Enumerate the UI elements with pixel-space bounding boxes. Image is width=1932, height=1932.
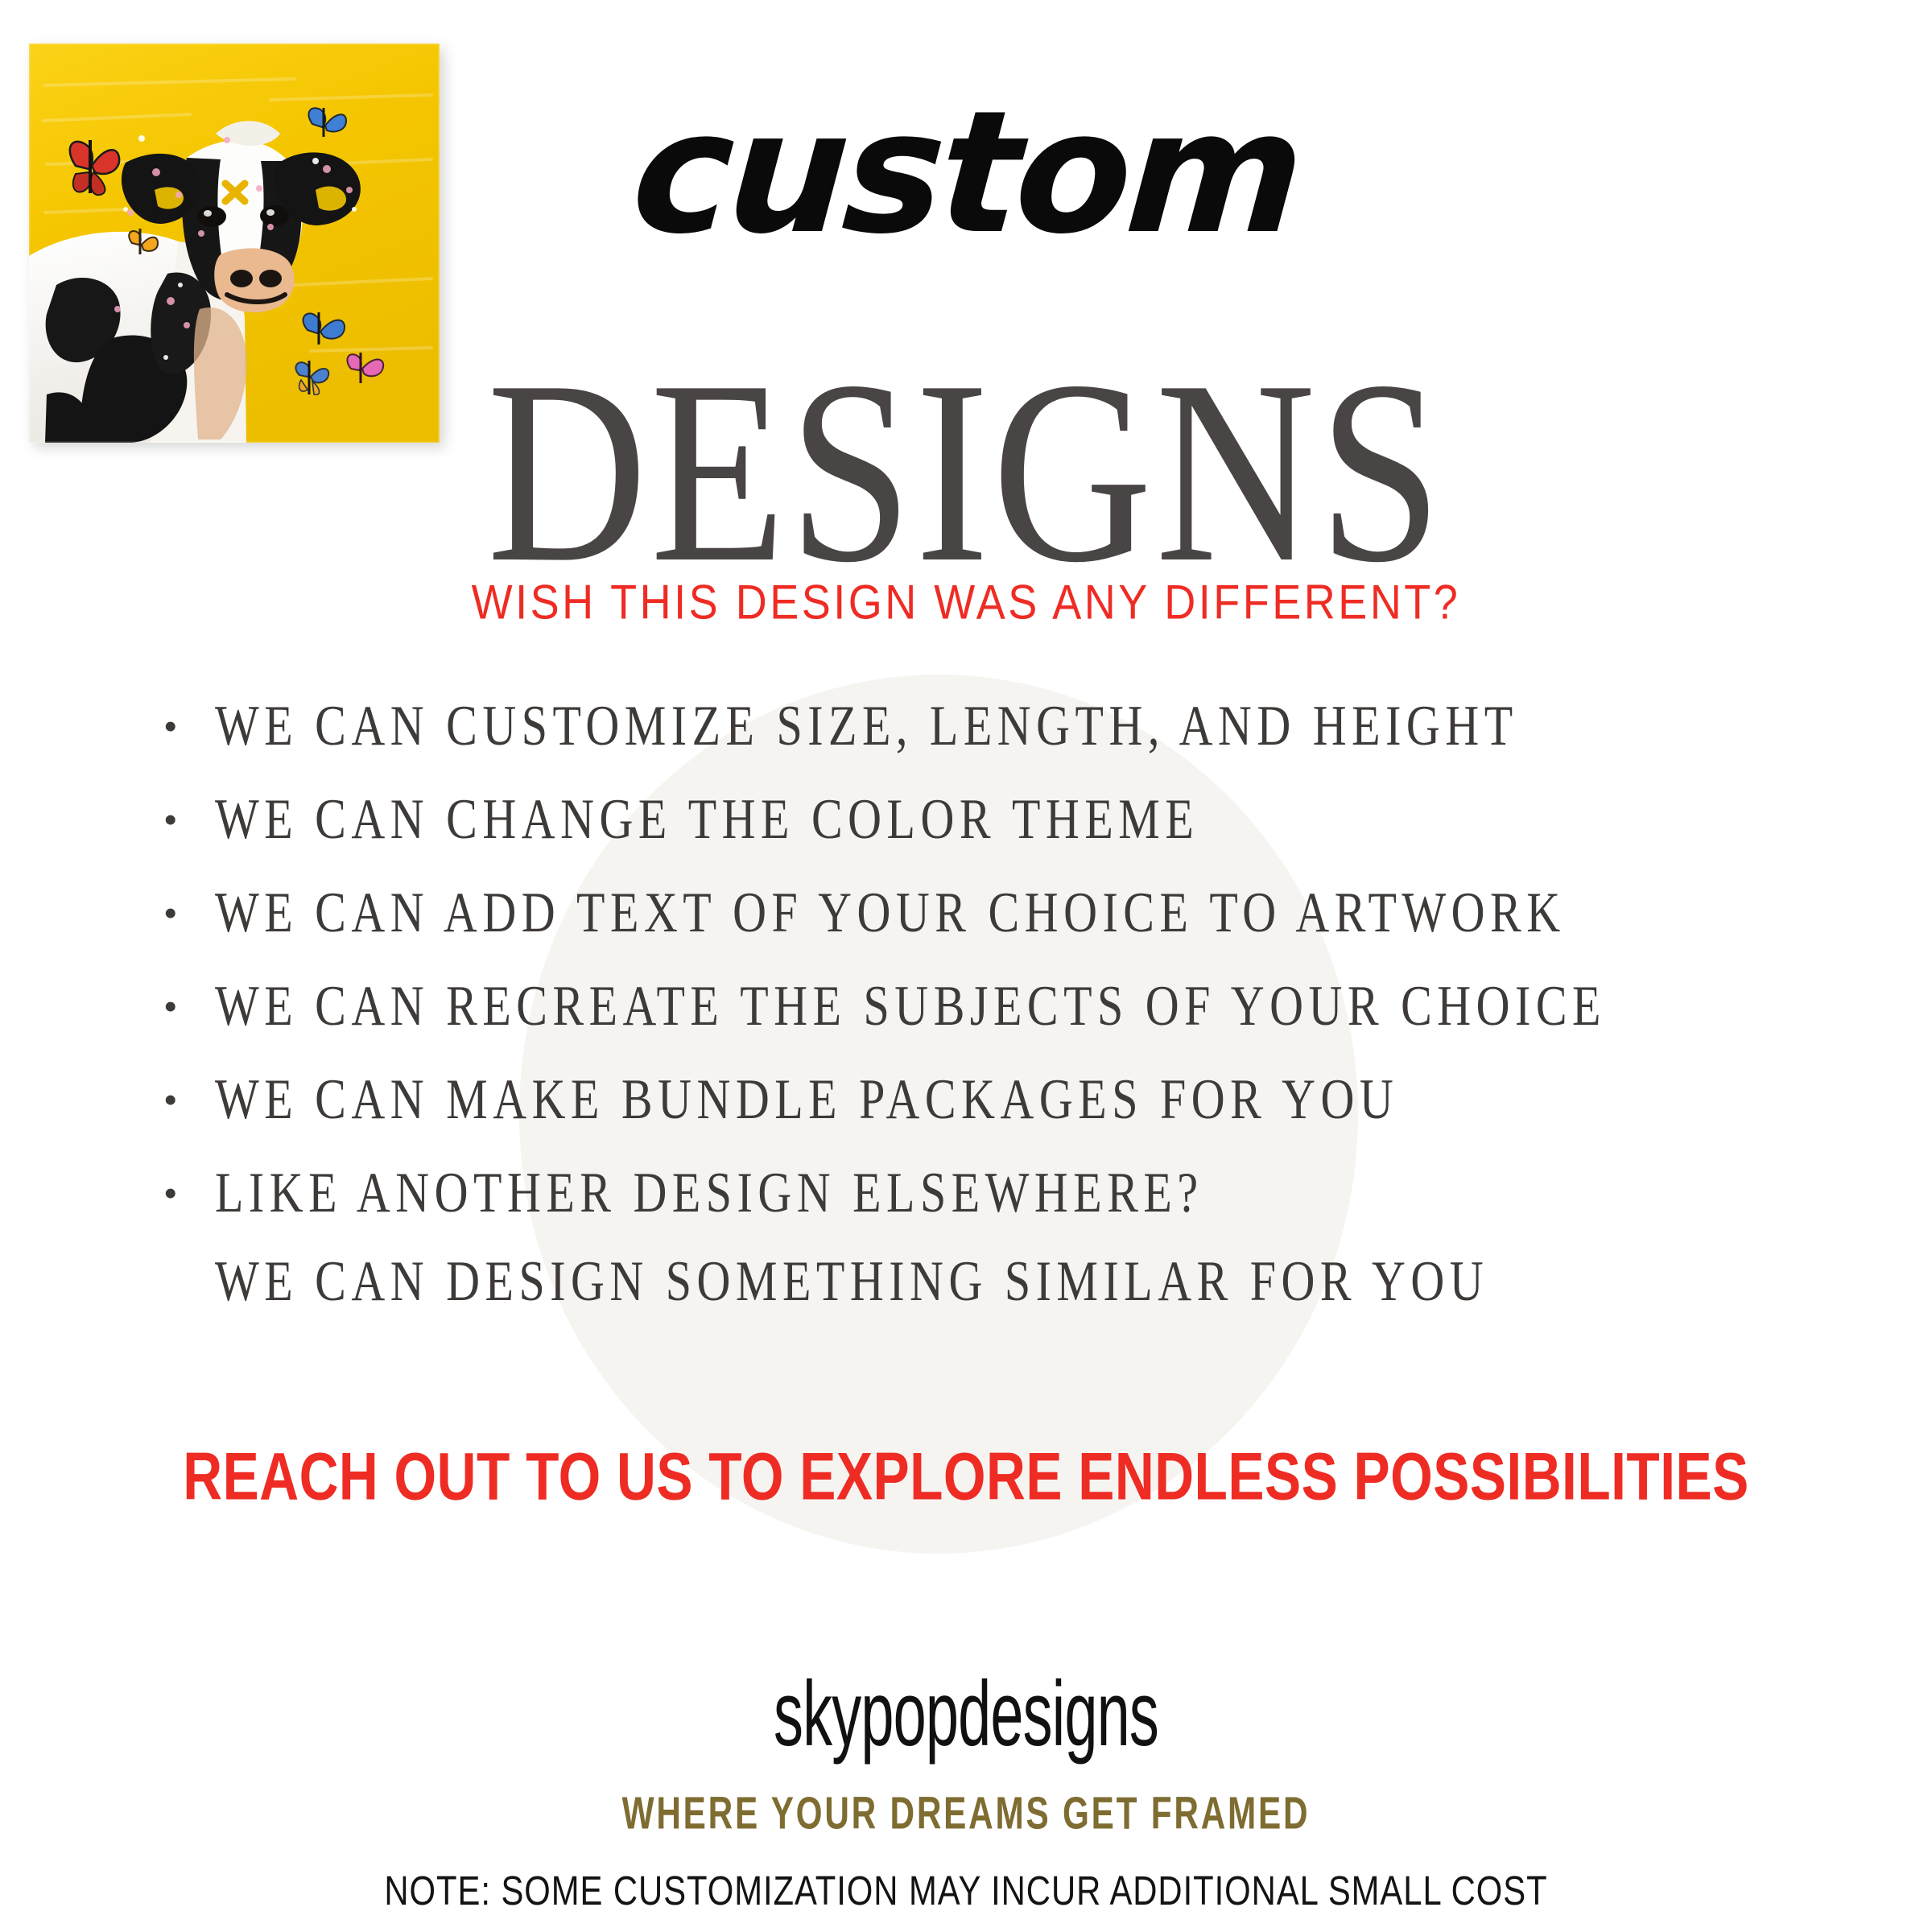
list-item-label: WE CAN RECREATE THE SUBJECTS OF YOUR CHO… [215,970,1606,1042]
list-item-label: WE CAN CUSTOMIZE SIZE, LENGTH, AND HEIGH… [215,690,1518,762]
bullet-icon: • [157,1070,215,1129]
list-item-label: WE CAN CHANGE THE COLOR THEME [215,783,1199,856]
bullet-icon: • [157,883,215,943]
cow-painting-illustration [29,43,440,443]
brand-logo-text: skypopdesigns [155,1668,1777,1760]
benefits-list: • WE CAN CUSTOMIZE SIZE, LENGTH, AND HEI… [157,696,1835,1345]
footnote-text: NOTE: SOME CUSTOMIZATION MAY INCUR ADDIT… [48,1871,1884,1912]
artwork-thumbnail [29,43,440,443]
list-item: • WE CAN ADD TEXT OF YOUR CHOICE TO ARTW… [157,883,1835,943]
list-item: • WE CAN CHANGE THE COLOR THEME [157,790,1835,849]
bullet-icon: • [157,696,215,756]
bullet-icon: • [157,976,215,1036]
list-item-label: LIKE ANOTHER DESIGN ELSEWHERE? [215,1157,1203,1229]
bullet-icon: • [157,1163,215,1223]
list-item-label: WE CAN MAKE BUNDLE PACKAGES FOR YOU [215,1063,1398,1136]
list-item-label: WE CAN DESIGN SOMETHING SIMILAR FOR YOU [215,1245,1488,1318]
brand-tagline: WHERE YOUR DREAMS GET FRAMED [77,1790,1855,1835]
list-item: • LIKE ANOTHER DESIGN ELSEWHERE? [157,1163,1835,1223]
list-item-continuation: • WE CAN DESIGN SOMETHING SIMILAR FOR YO… [157,1252,1835,1311]
bullet-icon: • [157,790,215,849]
list-item: • WE CAN RECREATE THE SUBJECTS OF YOUR C… [157,976,1835,1036]
call-to-action-text: REACH OUT TO US TO EXPLORE ENDLESS POSSI… [58,1443,1874,1511]
subtitle-question: WISH THIS DESIGN WAS ANY DIFFERENT? [0,578,1932,626]
promo-graphic-page: custom DESIGNS WISH THIS DESIGN WAS ANY … [0,0,1932,1932]
list-item: • WE CAN MAKE BUNDLE PACKAGES FOR YOU [157,1070,1835,1129]
list-item-label: WE CAN ADD TEXT OF YOUR CHOICE TO ARTWOR… [215,877,1566,949]
list-item: • WE CAN CUSTOMIZE SIZE, LENGTH, AND HEI… [157,696,1835,756]
